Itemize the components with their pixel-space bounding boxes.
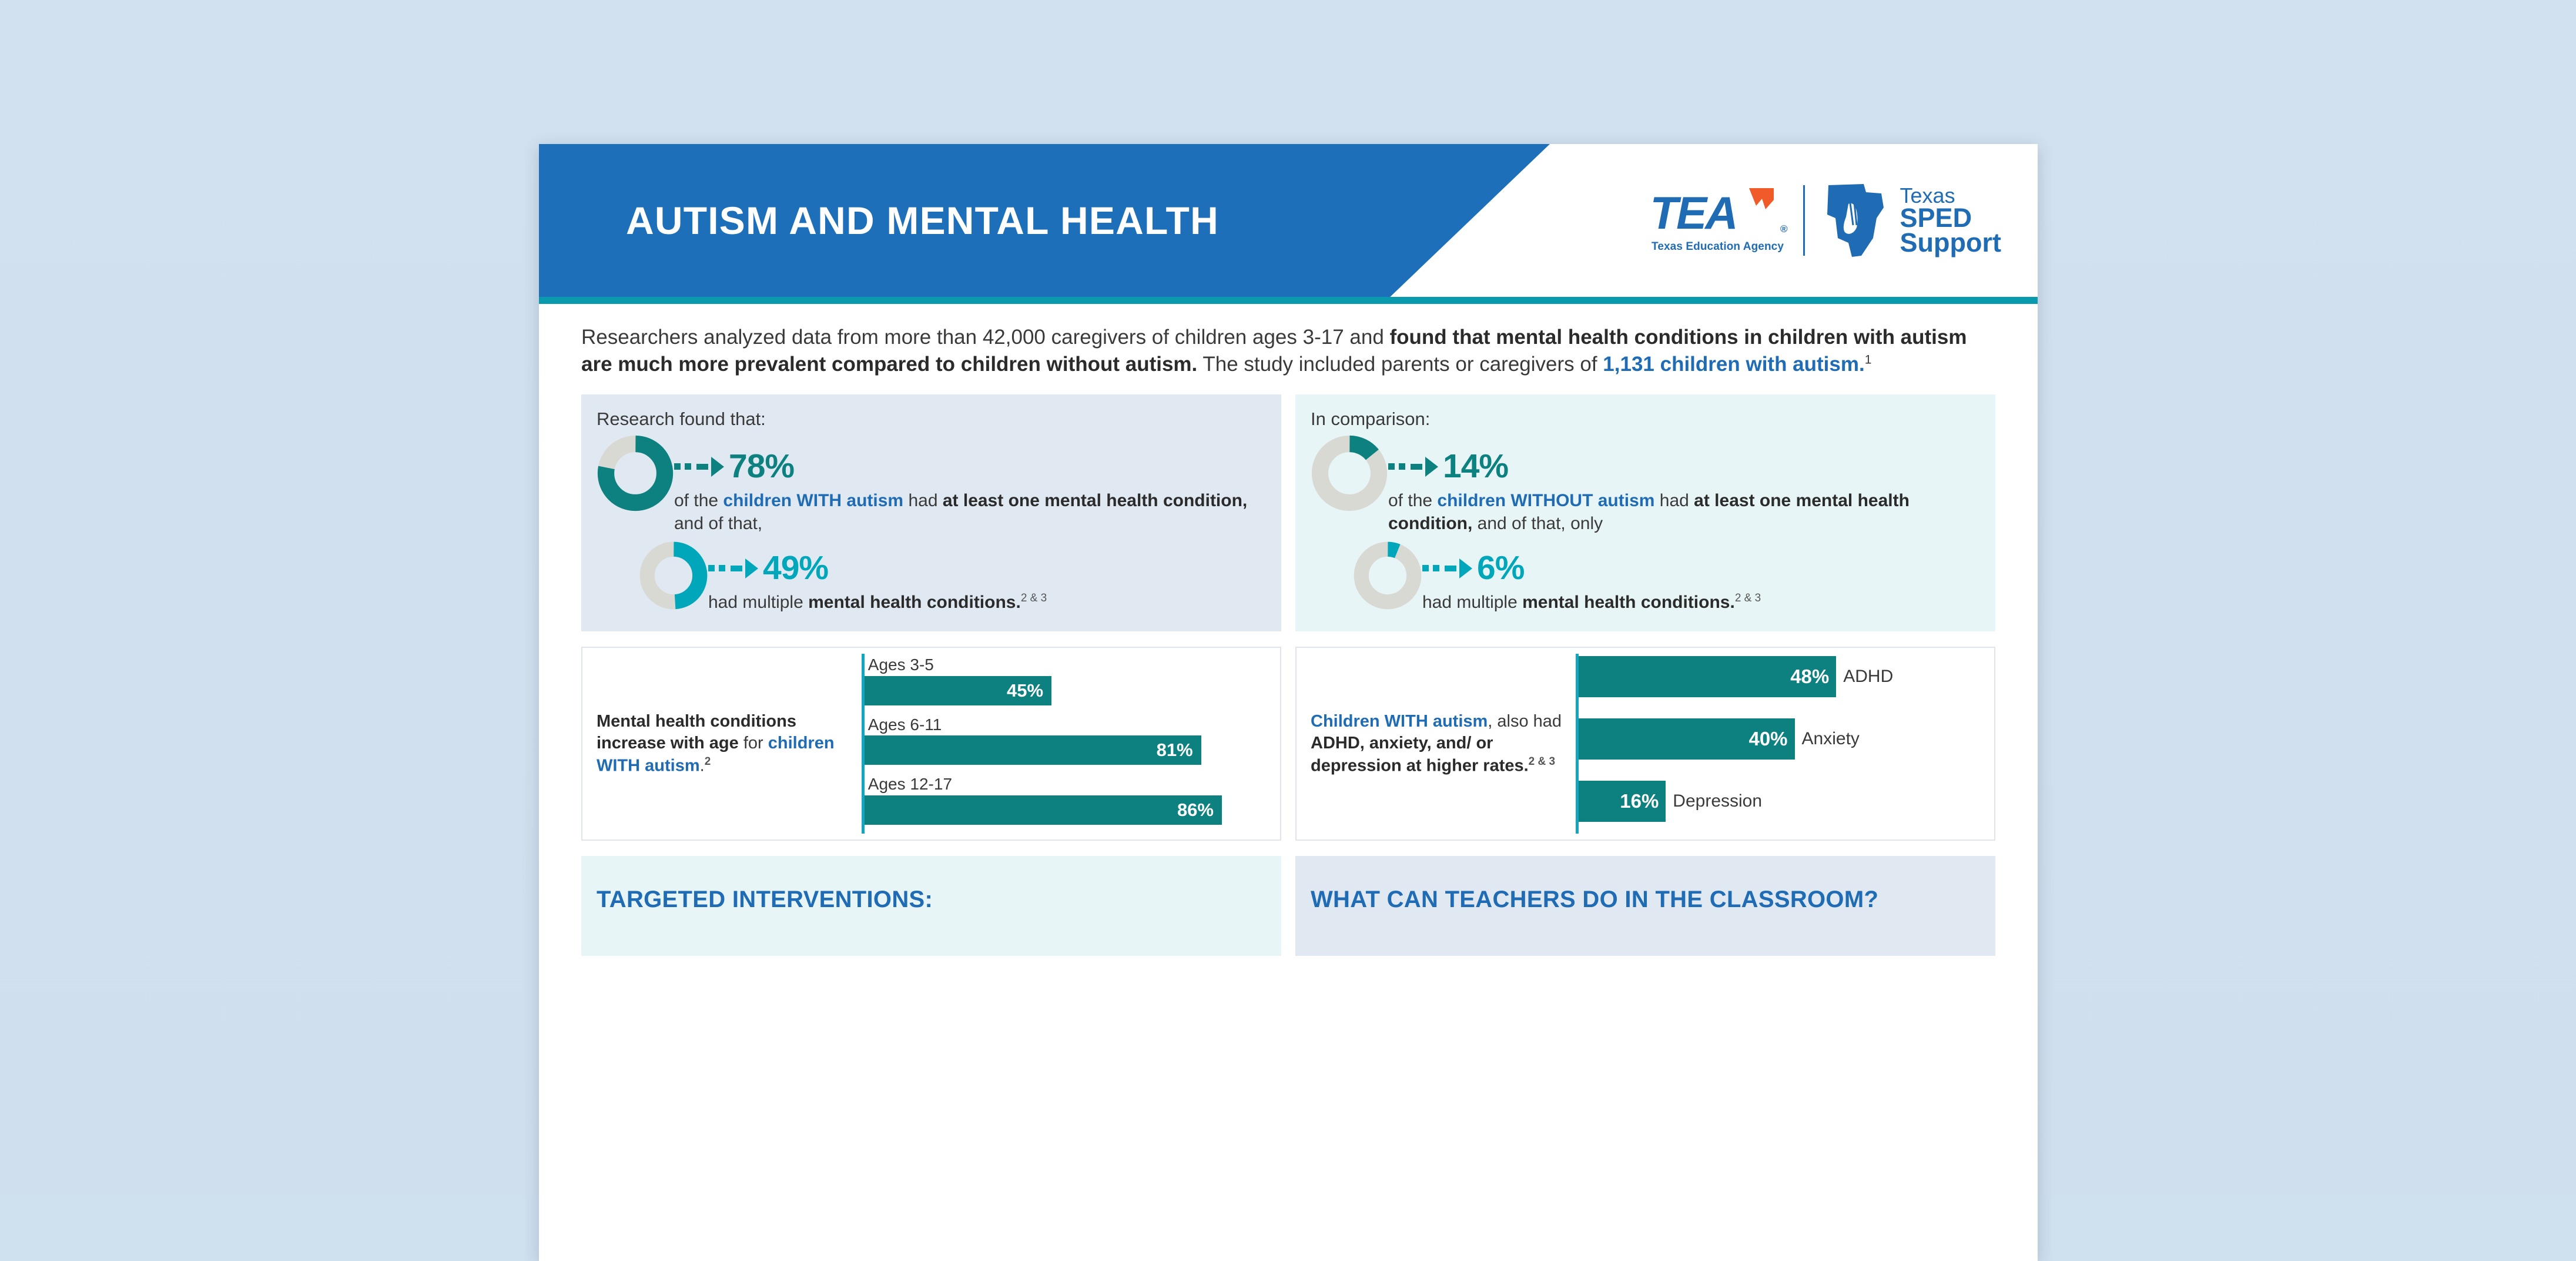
card-age-caption: Mental health conditions increase with a…: [582, 648, 862, 839]
donut-chart-14: [1311, 434, 1388, 515]
stat-post: and of that, only: [1472, 514, 1603, 533]
stat-percent-78: 78%: [729, 450, 794, 483]
sped-wordmark: Texas SPED Support: [1900, 186, 2001, 255]
stat-post: and of that,: [674, 514, 762, 533]
stat-body-49: 49% had multiple mental health condition…: [708, 541, 1266, 614]
tea-wordmark: TEA ®: [1650, 188, 1786, 238]
texas-sped-support-logo: Texas SPED Support: [1823, 182, 2001, 259]
card-conditions-chart: Children WITH autism, also had ADHD, anx…: [1295, 647, 1995, 841]
bar-label-ages-12-17: Ages 12-17: [865, 775, 1280, 792]
tea-flame-icon: [1748, 186, 1775, 216]
arrow-connector-6: [1422, 558, 1472, 578]
bottom-section-cards: TARGETED INTERVENTIONS: WHAT CAN TEACHER…: [581, 856, 1995, 956]
bar-value-anxiety: 40%: [1748, 728, 1787, 750]
arrow-connector-14: [1388, 457, 1438, 477]
donut-49-svg: [639, 541, 708, 610]
intro-link-1: 1,131 children with autism.: [1603, 353, 1864, 376]
infographic-page: AUTISM AND MENTAL HEALTH TEA ® Texas Edu…: [539, 144, 2038, 1261]
stat-panels: Research found that:: [581, 394, 1995, 631]
arrow-dot: [708, 565, 715, 571]
arrow-dot: [685, 463, 691, 470]
stat-pre: of the: [1388, 491, 1437, 510]
bar-group-ages-6-11: Ages 6-11 81%: [865, 716, 1280, 765]
panel-in-comparison: In comparison:: [1295, 394, 1995, 631]
arrow-connector-78: [674, 457, 724, 477]
panel-heading: Research found that:: [597, 409, 1266, 430]
arrow-dot: [1388, 463, 1395, 470]
stat-row-6: 6% had multiple mental health conditions…: [1311, 541, 1980, 614]
donut-chart-6: [1353, 541, 1422, 613]
bar-ages-12-17: 86%: [865, 795, 1222, 825]
bar-anxiety: 40%: [1579, 718, 1795, 760]
desktop-background: AUTISM AND MENTAL HEALTH TEA ® Texas Edu…: [0, 0, 2576, 1195]
stat-row-14: 14% of the children WITHOUT autism had a…: [1311, 434, 1980, 535]
stat-pre: had multiple: [708, 593, 808, 612]
caption-footnote: 2 & 3: [1529, 755, 1555, 768]
card-targeted-interventions: TARGETED INTERVENTIONS:: [581, 856, 1281, 956]
arrow-dot: [1422, 565, 1429, 571]
arrow-shaft: [731, 566, 742, 571]
bar-row-anxiety: 40% Anxiety: [1579, 718, 1994, 760]
arrow-connector-49: [708, 558, 758, 578]
bar-label-ages-6-11: Ages 6-11: [865, 716, 1280, 733]
stat-link: children WITH autism: [723, 491, 903, 510]
bar-row-depression: 16% Depression: [1579, 781, 1994, 822]
stat-footnote: 2 & 3: [1021, 592, 1047, 604]
arrow-shaft: [696, 464, 708, 470]
donut-14-svg: [1311, 434, 1388, 512]
bar-value-ages-12-17: 86%: [1177, 800, 1214, 821]
bar-label-adhd: ADHD: [1843, 667, 1893, 687]
stat-body-14: 14% of the children WITHOUT autism had a…: [1388, 434, 1980, 535]
stat-link: children WITHOUT autism: [1437, 491, 1654, 510]
stat-pre: of the: [674, 491, 723, 510]
arrow-dot: [719, 565, 725, 571]
bar-value-ages-3-5: 45%: [1007, 680, 1043, 701]
age-bar-chart: Ages 3-5 45% Ages 6-11 81% Ages 12-17: [862, 648, 1280, 839]
stat-text-49: had multiple mental health conditions.2 …: [708, 591, 1266, 614]
arrow-head-icon: [1425, 457, 1438, 477]
stat-text-14: of the children WITHOUT autism had at le…: [1388, 489, 1980, 535]
tea-letters: TEA: [1650, 187, 1737, 239]
arrow-dot: [1433, 565, 1439, 571]
stat-percent-49: 49%: [763, 551, 828, 585]
card-title-teachers-classroom: WHAT CAN TEACHERS DO IN THE CLASSROOM?: [1311, 887, 1980, 913]
card-teachers-classroom: WHAT CAN TEACHERS DO IN THE CLASSROOM?: [1295, 856, 1995, 956]
stat-pre: had multiple: [1422, 593, 1522, 612]
stat-footnote: 2 & 3: [1735, 592, 1761, 604]
arrow-dot: [674, 463, 681, 470]
page-header: AUTISM AND MENTAL HEALTH TEA ® Texas Edu…: [539, 144, 2038, 297]
arrow-shaft: [1445, 566, 1456, 571]
card-title-targeted-interventions: TARGETED INTERVENTIONS:: [597, 887, 1266, 913]
bar-adhd: 48%: [1579, 656, 1836, 697]
bar-group-ages-3-5: Ages 3-5 45%: [865, 656, 1280, 705]
stat-bold: at least one mental health condition,: [943, 491, 1247, 510]
arrow-head-icon: [745, 558, 758, 578]
tea-subtitle: Texas Education Agency: [1652, 240, 1784, 253]
stat-body-78: 78% of the children WITH autism had at l…: [674, 434, 1266, 535]
sped-line-support: Support: [1900, 230, 2001, 255]
bar-label-depression: Depression: [1673, 791, 1762, 811]
card-age-chart: Mental health conditions increase with a…: [581, 647, 1281, 841]
chart-cards: Mental health conditions increase with a…: [581, 647, 1995, 841]
bar-row-adhd: 48% ADHD: [1579, 656, 1994, 697]
caption-bold: ADHD, anxiety, and/ or depression at hig…: [1311, 734, 1529, 775]
sped-line-sped: SPED: [1900, 206, 2001, 230]
stat-body-6: 6% had multiple mental health conditions…: [1422, 541, 1980, 614]
texas-state-hand-icon: [1823, 182, 1892, 259]
bar-value-depression: 16%: [1620, 790, 1659, 812]
stat-row-49: 49% had multiple mental health condition…: [597, 541, 1266, 614]
stat-percent-14: 14%: [1443, 450, 1508, 483]
bar-value-ages-6-11: 81%: [1157, 740, 1193, 761]
panel-heading: In comparison:: [1311, 409, 1980, 430]
intro-footnote-1: 1: [1865, 353, 1872, 367]
donut-chart-49: [639, 541, 708, 613]
caption-footnote: 2: [705, 755, 711, 768]
card-conditions-caption: Children WITH autism, also had ADHD, anx…: [1297, 648, 1576, 839]
chart-axis-line: [862, 654, 865, 834]
arrow-shaft: [1411, 464, 1422, 470]
stat-bold: mental health conditions.: [808, 593, 1021, 612]
donut-78-svg: [597, 434, 674, 512]
bar-value-adhd: 48%: [1790, 665, 1829, 688]
tea-logo: TEA ® Texas Education Agency: [1650, 188, 1786, 253]
stat-mid: had: [1654, 491, 1694, 510]
logo-group: TEA ® Texas Education Agency: [1650, 144, 2001, 297]
stat-mid: had: [903, 491, 943, 510]
intro-paragraph: Researchers analyzed data from more than…: [581, 324, 1995, 378]
bar-label-anxiety: Anxiety: [1802, 729, 1860, 749]
arrow-dot: [1399, 463, 1405, 470]
donut-6-svg: [1353, 541, 1422, 610]
stat-bold: mental health conditions.: [1522, 593, 1735, 612]
donut-chart-78: [597, 434, 674, 515]
bar-ages-6-11: 81%: [865, 735, 1201, 765]
stat-text-6: had multiple mental health conditions.2 …: [1422, 591, 1980, 614]
header-teal-rule: [539, 297, 2038, 304]
logo-divider: [1803, 185, 1805, 256]
caption-normal: , also had: [1488, 712, 1562, 731]
tea-registered-mark: ®: [1780, 223, 1788, 235]
intro-text-2: The study included parents or caregivers…: [1197, 353, 1603, 376]
conditions-bar-chart: 48% ADHD 40% Anxiety 16%: [1576, 648, 1994, 839]
stat-percent-6: 6%: [1477, 551, 1524, 585]
page-title: AUTISM AND MENTAL HEALTH: [626, 144, 1219, 297]
chart-axis-line: [1576, 654, 1579, 834]
stat-text-78: of the children WITH autism had at least…: [674, 489, 1266, 535]
stat-row-78: 78% of the children WITH autism had at l…: [597, 434, 1266, 535]
caption-link: Children WITH autism: [1311, 712, 1488, 731]
bar-depression: 16%: [1579, 781, 1666, 822]
intro-text-1: Researchers analyzed data from more than…: [581, 326, 1390, 349]
bar-ages-3-5: 45%: [865, 676, 1051, 705]
arrow-head-icon: [711, 457, 724, 477]
panel-research-found: Research found that:: [581, 394, 1281, 631]
bar-label-ages-3-5: Ages 3-5: [865, 656, 1280, 673]
caption-tail: .: [700, 757, 705, 775]
arrow-head-icon: [1459, 558, 1472, 578]
bar-group-ages-12-17: Ages 12-17 86%: [865, 775, 1280, 824]
caption-normal: for: [739, 734, 768, 752]
